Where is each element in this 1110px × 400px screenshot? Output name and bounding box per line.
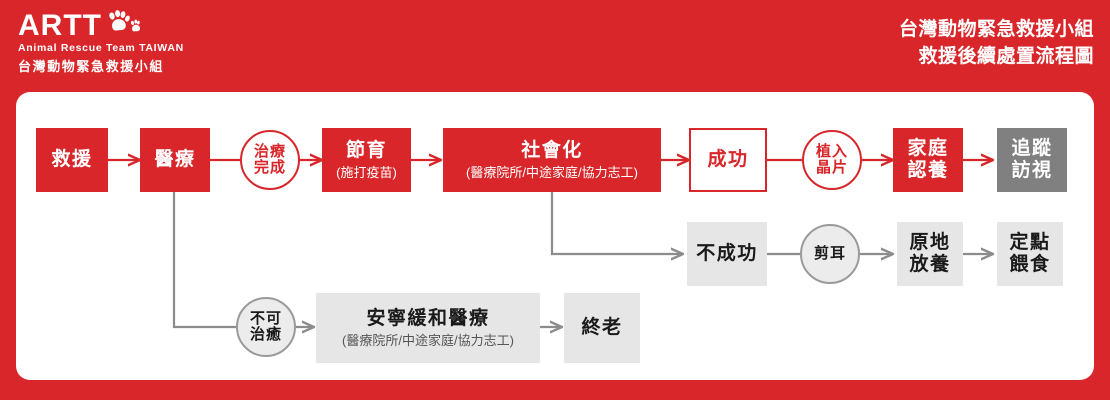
node-designated-feeding-line-2: 餵食: [1009, 254, 1050, 276]
node-designated-feeding-line-1: 定點: [1009, 232, 1050, 254]
node-follow-up-visit[interactable]: 追蹤 訪視: [997, 128, 1067, 192]
node-family-adoption-line-1: 家庭: [907, 138, 948, 160]
node-family-adoption-line-2: 認養: [907, 160, 948, 182]
node-treatment-complete-line-2: 完成: [254, 160, 286, 177]
node-follow-up-visit-line-2: 訪視: [1011, 160, 1052, 182]
page-title-line-2: 救援後續處置流程圖: [899, 43, 1094, 70]
node-rescue-label: 救援: [51, 149, 92, 171]
node-palliative-care-sublabel: (醫療院所/中途家庭/協力志工): [342, 333, 514, 348]
node-success-label: 成功: [707, 149, 748, 171]
node-treatment-complete[interactable]: 治療 完成: [240, 130, 300, 190]
logo-tagline-chinese: 台灣動物緊急救援小組: [18, 56, 248, 75]
node-release-in-place-line-1: 原地: [909, 232, 950, 254]
node-medical[interactable]: 醫療: [140, 128, 210, 192]
node-unsuccessful[interactable]: 不成功: [687, 222, 767, 286]
node-sterilization-label: 節育: [346, 140, 387, 162]
node-socialization[interactable]: 社會化 (醫療院所/中途家庭/協力志工): [443, 128, 661, 192]
node-sterilization[interactable]: 節育 (施打疫苗): [322, 128, 411, 192]
node-ear-tipping[interactable]: 剪耳: [800, 224, 860, 284]
logo-tagline-english: Animal Rescue Team TAIWAN: [18, 42, 248, 54]
artt-logo: ARTT Animal Rescue T: [18, 10, 248, 75]
node-end-of-life-label: 終老: [581, 317, 622, 339]
page-header: ARTT Animal Rescue T: [0, 0, 1110, 92]
node-family-adoption[interactable]: 家庭 認養: [893, 128, 963, 192]
node-medical-label: 醫療: [154, 149, 195, 171]
node-end-of-life[interactable]: 終老: [564, 293, 640, 363]
node-release-in-place[interactable]: 原地 放養: [897, 222, 963, 286]
node-incurable[interactable]: 不可 治癒: [236, 297, 296, 357]
logo-wordmark-text: ARTT: [18, 11, 102, 41]
node-palliative-care[interactable]: 安寧緩和醫療 (醫療院所/中途家庭/協力志工): [316, 293, 540, 363]
node-microchip-line-2: 晶片: [816, 160, 848, 177]
node-socialization-sublabel: (醫療院所/中途家庭/協力志工): [466, 165, 638, 180]
node-success[interactable]: 成功: [689, 128, 767, 192]
paw-print-icon: [106, 10, 140, 41]
node-release-in-place-line-2: 放養: [909, 254, 950, 276]
node-microchip-line-1: 植入: [816, 144, 848, 161]
node-socialization-label: 社會化: [521, 140, 583, 162]
page-title: 台灣動物緊急救援小組 救援後續處置流程圖: [899, 16, 1094, 70]
node-designated-feeding[interactable]: 定點 餵食: [997, 222, 1063, 286]
node-rescue[interactable]: 救援: [36, 128, 108, 192]
node-follow-up-visit-line-1: 追蹤: [1011, 138, 1052, 160]
logo-wordmark-row: ARTT: [18, 10, 248, 41]
node-incurable-line-2: 治癒: [250, 327, 282, 344]
node-palliative-care-label: 安寧緩和醫療: [366, 308, 489, 330]
node-treatment-complete-line-1: 治療: [254, 144, 286, 161]
node-microchip[interactable]: 植入 晶片: [802, 130, 862, 190]
node-ear-tipping-label: 剪耳: [814, 246, 846, 263]
node-unsuccessful-label: 不成功: [696, 243, 758, 265]
node-sterilization-sublabel: (施打疫苗): [336, 165, 397, 180]
page-title-line-1: 台灣動物緊急救援小組: [899, 16, 1094, 43]
node-incurable-line-1: 不可: [250, 311, 282, 328]
